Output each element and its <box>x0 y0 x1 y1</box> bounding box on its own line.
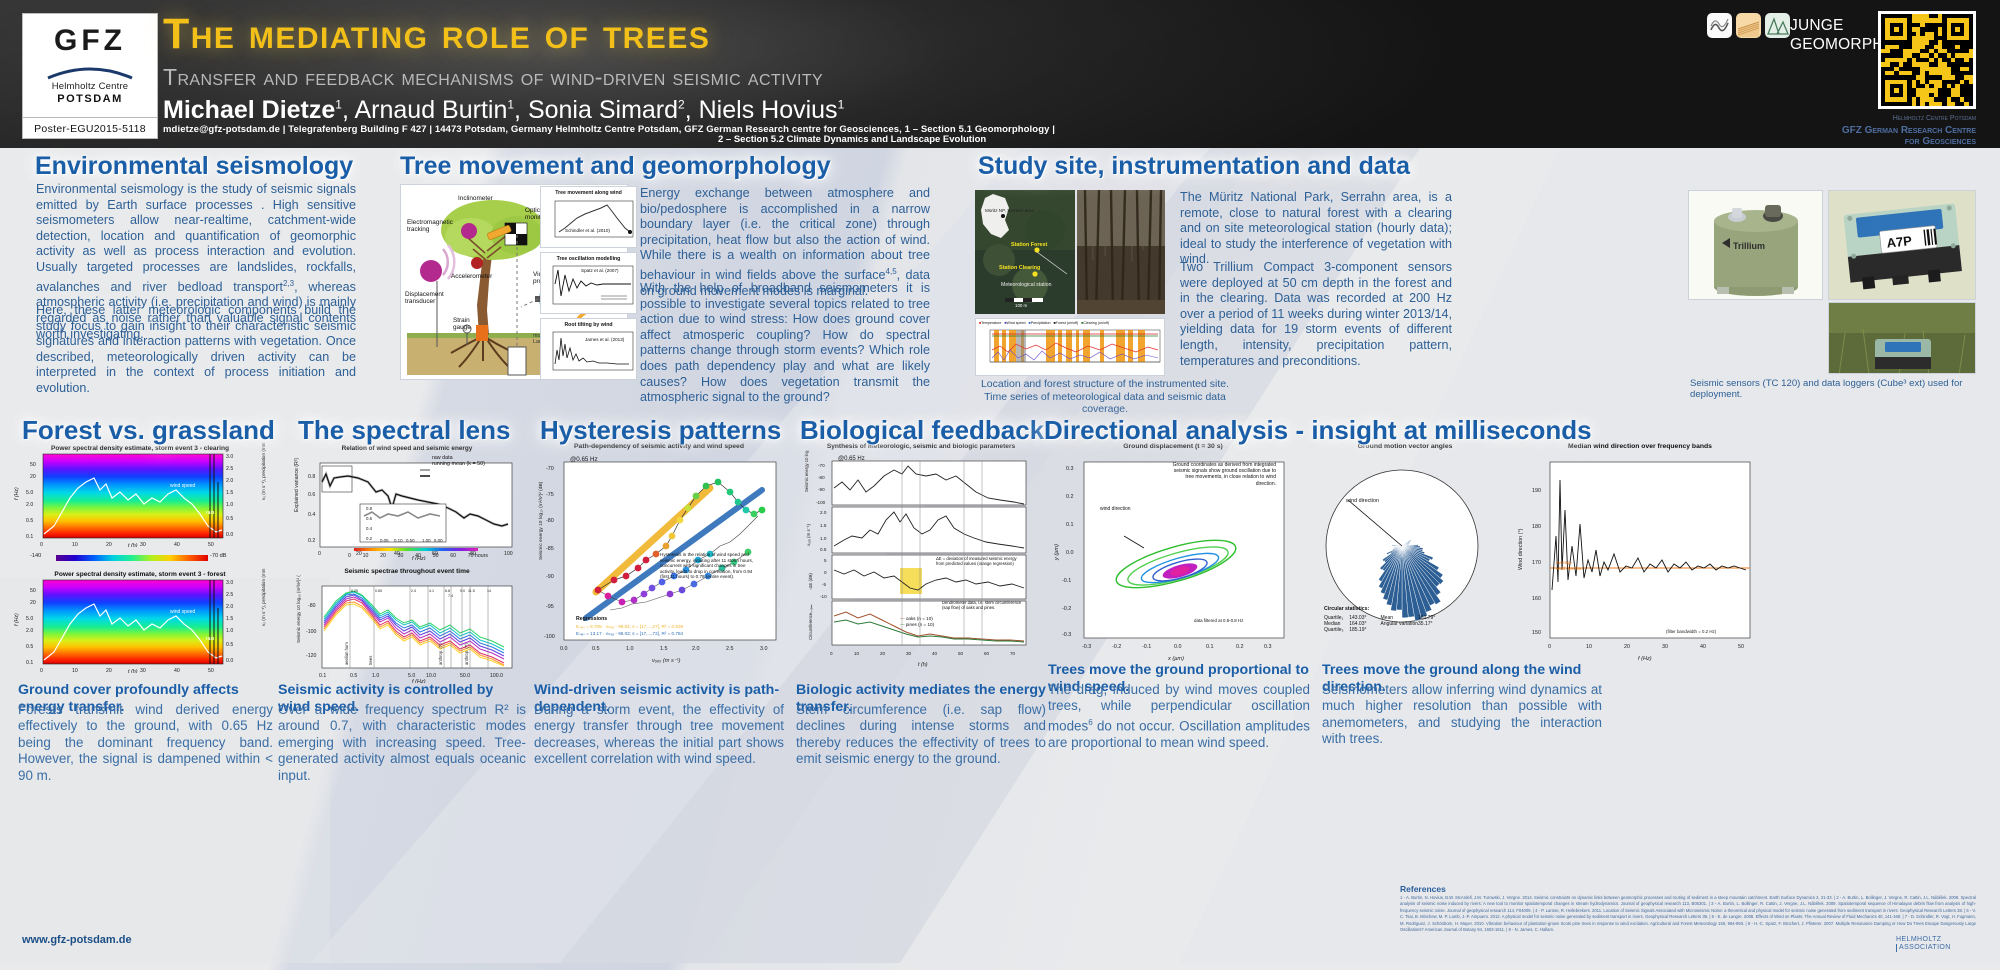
panel-ref-schindler: Schindler et al. (2010) <box>565 228 610 233</box>
svg-text:-85: -85 <box>546 546 554 552</box>
svg-text:190: 190 <box>1532 488 1541 494</box>
svg-text:-10: -10 <box>820 594 827 599</box>
poster-header: GFZ Helmholtz Centre POTSDAM Poster-EGU2… <box>0 0 2000 148</box>
variance-legend-mean: running mean (k = 50) <box>432 461 485 467</box>
svg-text:40: 40 <box>174 542 180 547</box>
gfz-logo-arc-icon <box>46 64 134 80</box>
ground-displacement-note: Ground coordinates as derived from integ… <box>1164 462 1276 487</box>
section-heading-hysteresis: Hysteresis patterns <box>540 415 781 446</box>
circular-statistics-heading: Circular statistics: <box>1324 606 1369 612</box>
svg-text:20: 20 <box>106 668 112 673</box>
svg-text:0: 0 <box>824 570 827 575</box>
svg-text:vₒₒₓ (m s⁻¹): vₒₒₓ (m s⁻¹) <box>806 524 811 546</box>
study-site-paragraph-1: The Müritz National Park, Serrahn area, … <box>1180 190 1452 268</box>
svg-text:5: 5 <box>824 558 827 563</box>
biological-legend: — oaks (n = 10) — pines (n = 10) <box>900 616 934 628</box>
svg-text:-0.1: -0.1 <box>1142 644 1151 650</box>
tree-movement-along-wind-panel: Tree movement along wind Schindler et al… <box>540 186 637 248</box>
svg-text:t (h): t (h) <box>128 669 138 673</box>
svg-text:0.65: 0.65 <box>375 589 382 593</box>
spectral-colorbar-gradient <box>354 548 478 551</box>
helmholtz-line-2: ASSOCIATION <box>1896 944 1951 952</box>
svg-text:0.0: 0.0 <box>1174 644 1182 650</box>
svg-text:0.5: 0.5 <box>592 646 600 652</box>
svg-text:average: average <box>1556 560 1572 565</box>
svg-text:1.0: 1.0 <box>626 646 634 652</box>
svg-text:0: 0 <box>1548 644 1551 650</box>
author-4: Niels Hovius <box>699 96 838 124</box>
svg-text:20: 20 <box>106 542 112 547</box>
svg-text:-0.3: -0.3 <box>1062 632 1071 638</box>
svg-text:0.0: 0.0 <box>226 532 233 538</box>
svg-text:6.8: 6.8 <box>445 589 450 593</box>
gfz-logo-sub2: POTSDAM <box>57 93 123 105</box>
svg-text:-100: -100 <box>816 500 826 505</box>
section-heading-biological-feedback: Biological feedback <box>800 415 1044 446</box>
svg-text:0.5: 0.5 <box>820 547 827 552</box>
svg-text:0.8: 0.8 <box>366 506 373 511</box>
svg-text:f (Hz): f (Hz) <box>1638 656 1652 662</box>
svg-text:anthrop. (?): anthrop. (?) <box>438 643 443 665</box>
trillium-sensor-photo: Trillium <box>1688 190 1823 300</box>
gfz-name-tiny: Helmholtz Centre Potsdam <box>1800 113 1976 125</box>
forest-photo <box>1077 190 1165 314</box>
svg-text:1.5: 1.5 <box>820 523 827 528</box>
svg-text:0.1: 0.1 <box>319 673 326 679</box>
psd-colorbar: -140 -70 dB <box>10 552 270 568</box>
svg-text:3.0: 3.0 <box>760 646 768 652</box>
svg-text:2.5: 2.5 <box>226 592 233 598</box>
svg-text:170: 170 <box>1532 560 1541 566</box>
author-3-sup: 2 <box>678 98 685 112</box>
conclusion-text-biological: Stem circumference (i.e. sap flow) decli… <box>796 702 1046 768</box>
svg-text:0.50: 0.50 <box>406 538 415 543</box>
psd-colorbar-max: -70 dB <box>210 553 226 559</box>
ground-displacement-wind-annot: wind direction <box>1100 506 1131 512</box>
svg-text:wind direction: wind direction <box>1556 566 1583 571</box>
svg-text:150: 150 <box>1532 630 1541 636</box>
biological-annotation-1: ΔE = deviation of measured seismic energ… <box>936 556 1022 566</box>
label-strain-gauge: Strain gauge <box>453 317 481 331</box>
biological-frequency-label: @0.65 Hz <box>838 456 865 462</box>
svg-text:-120: -120 <box>306 653 316 659</box>
svg-text:A7P: A7P <box>1886 233 1913 251</box>
author-4-sup: 1 <box>838 98 845 112</box>
svg-text:0.2: 0.2 <box>1066 494 1074 500</box>
svg-text:0.4: 0.4 <box>308 512 315 518</box>
author-3: Sonia Simard <box>528 96 678 124</box>
svg-text:1.5: 1.5 <box>660 646 668 652</box>
svg-text:-90: -90 <box>818 487 825 492</box>
svg-text:-0.2: -0.2 <box>1062 606 1071 612</box>
svg-text:5.00: 5.00 <box>434 538 443 543</box>
variance-frequency-figure: Relation of wind speed and seismic energ… <box>288 442 526 550</box>
intro-p1-citation: 2,3 <box>283 279 294 288</box>
svg-text:0.1: 0.1 <box>26 660 33 666</box>
svg-text:t (h): t (h) <box>918 662 928 668</box>
svg-text:vₒ (m s⁻¹), precipitation (mm: vₒ (m s⁻¹), precipitation (mm h⁻¹) <box>261 442 266 500</box>
psd-clearing-figure: Power spectral density estimate, storm e… <box>10 442 270 547</box>
svg-text:-80: -80 <box>308 603 316 609</box>
poster-subtitle: Transfer and feedback mechanisms of wind… <box>163 64 823 91</box>
svg-text:0.5: 0.5 <box>226 642 233 648</box>
svg-text:rain: rain <box>206 510 215 516</box>
section-heading-study-site: Study site, instrumentation and data <box>978 152 1410 181</box>
svg-text:0.5: 0.5 <box>26 518 33 524</box>
svg-text:-80: -80 <box>546 518 554 524</box>
svg-text:40: 40 <box>174 668 180 673</box>
panel-ref-james: James et al. (2013) <box>585 337 624 342</box>
svg-text:20: 20 <box>30 600 36 606</box>
svg-text:-ΔE (dB): -ΔE (dB) <box>808 573 813 590</box>
svg-text:(filter bandwidth = 0.2 Hz): (filter bandwidth = 0.2 Hz) <box>1666 629 1717 634</box>
svg-text:y (µm): y (µm) <box>1054 544 1060 561</box>
svg-text:50: 50 <box>1738 644 1744 650</box>
map-scale-label: 100 m <box>1015 303 1027 308</box>
svg-text:5.0: 5.0 <box>26 616 33 622</box>
legend-temperature: ■Temperature <box>979 321 1001 325</box>
svg-text:50: 50 <box>30 588 36 594</box>
svg-text:30: 30 <box>906 651 912 656</box>
svg-text:0.05: 0.05 <box>380 538 389 543</box>
svg-text:1.0: 1.0 <box>820 536 827 541</box>
svg-text:0: 0 <box>40 542 43 547</box>
vector-angles-figure: Ground motion vector angles wind directi… <box>1290 440 1520 665</box>
junge-geomorphologen-logos <box>1707 13 1790 38</box>
tree-p1-citation: 4,5 <box>886 267 897 276</box>
svg-text:-95: -95 <box>546 604 554 610</box>
svg-text:2.0: 2.0 <box>820 510 827 515</box>
map-label-station-forest: Station Forest <box>1011 242 1047 248</box>
vector-angles-wind-annot: wind direction <box>1346 498 1379 505</box>
qr-code-grid <box>1881 14 1973 106</box>
svg-text:7.4: 7.4 <box>448 594 453 598</box>
svg-text:2.0: 2.0 <box>26 502 33 508</box>
label-electromagnetic-tracking: Electromagnetic tracking <box>407 219 453 233</box>
conclusion-text-directional-1: The drag, induced by wind moves coupled … <box>1048 682 1310 751</box>
svg-text:10: 10 <box>854 651 860 656</box>
svg-text:0.8: 0.8 <box>308 474 315 480</box>
tree-paragraph-2: With the help of broadband seismometers … <box>640 281 930 406</box>
legend-clearing: ■Clearing (on/off) <box>1081 321 1109 325</box>
label-displacement-transducer: Displacement transducer <box>405 291 451 305</box>
svg-text:100.0: 100.0 <box>490 673 503 679</box>
logger-field-photo <box>1828 302 1976 374</box>
svg-text:Seismic energy 10 log₁₀ (m²/s²: Seismic energy 10 log₁₀ (m²/s²)² (dB) <box>296 575 301 643</box>
hysteresis-regression-2: Eₛₑᵢₛ = 13.17 · vₘₐₓ - 95.03; s = [17,..… <box>576 631 683 637</box>
map-label-met-station: Meteorological station <box>1001 282 1051 288</box>
label-accelerometer: Accelerometer <box>451 273 492 280</box>
label-inclinometer: Inclinometer <box>458 195 493 202</box>
helmholtz-line-1: HELMHOLTZ <box>1896 936 1951 944</box>
svg-text:20: 20 <box>880 651 886 656</box>
map-inset-label: Müritz NP, Serrahn area <box>985 208 1034 213</box>
gfz-name-line2: for Geosciences <box>1905 136 1976 147</box>
svg-text:f (Hz): f (Hz) <box>14 613 20 626</box>
svg-text:4.1: 4.1 <box>429 589 434 593</box>
svg-text:0.5: 0.5 <box>350 673 357 679</box>
section-heading-forest-vs-grassland: Forest vs. grassland <box>22 415 275 446</box>
seismic-spectra-title: Seismic spectrae throughout event time <box>288 565 526 575</box>
conclusion-text-spectral: Over a wide frequency spectrum R² is aro… <box>278 702 526 784</box>
svg-text:1.5: 1.5 <box>226 490 233 496</box>
hysteresis-frequency-label: @0.65 Hz <box>570 456 598 463</box>
svg-text:50.0: 50.0 <box>460 673 470 679</box>
legend-precipitation: ■Precipitation <box>1029 321 1051 325</box>
legend-wind-speed: ■Wind speed <box>1004 321 1025 325</box>
section-heading-environmental-seismology: Environmental seismology <box>35 152 353 181</box>
svg-text:0.1: 0.1 <box>1206 644 1214 650</box>
svg-text:-70: -70 <box>546 466 554 472</box>
seismic-spectra-figure: Seismic spectrae throughout event time 0… <box>288 565 526 673</box>
map-label-station-clearing: Station Clearing <box>999 265 1040 271</box>
svg-text:0.2: 0.2 <box>1236 644 1244 650</box>
svg-text:3.0: 3.0 <box>226 580 233 586</box>
footer-website-link[interactable]: www.gfz-potsdam.de <box>22 934 132 946</box>
svg-text:-70: -70 <box>818 463 825 468</box>
intro-paragraph-2: Here, these latter meteorologic componen… <box>36 303 356 397</box>
svg-text:rain: rain <box>206 636 215 642</box>
svg-text:anthrop. (?): anthrop. (?) <box>464 643 469 665</box>
svg-text:0.2: 0.2 <box>308 538 315 544</box>
hysteresis-figure: Path-dependency of seismic activity and … <box>534 440 784 670</box>
svg-text:0.1: 0.1 <box>26 534 33 540</box>
references-body: 1 - A. Burtin, N. Hovius, B.W. McArdell,… <box>1400 895 1976 933</box>
panel-title-tree-oscillation: Tree oscillation modelling <box>541 253 636 262</box>
svg-text:-0.3: -0.3 <box>1082 644 1091 650</box>
svg-text:t (h): t (h) <box>128 543 138 547</box>
qr-code[interactable] <box>1878 11 1976 109</box>
svg-text:20: 20 <box>30 474 36 480</box>
panel-ref-spatz: Spatz et al. (2007) <box>581 268 619 273</box>
svg-text:vₒₒₓ (m s⁻¹): vₒₒₓ (m s⁻¹) <box>652 658 681 664</box>
svg-text:0.0: 0.0 <box>226 658 233 664</box>
svg-text:2.0: 2.0 <box>692 646 700 652</box>
svg-text:3.0: 3.0 <box>226 454 233 460</box>
svg-text:wind speed: wind speed <box>170 483 196 489</box>
svg-text:-5: -5 <box>822 582 827 587</box>
sensor-photo-caption: Seismic sensors (TC 120) and data logger… <box>1690 378 1980 401</box>
biological-annotation-2: Dendrometer data, i.e. stem circumferenc… <box>942 600 1024 610</box>
conclusion-text-hysteresis: During a storm event, the effectivity of… <box>534 702 784 768</box>
gfz-name-line1: GFZ German Research Centre <box>1842 125 1976 136</box>
author-2: Arnaud Burtin <box>354 96 507 124</box>
svg-text:40: 40 <box>1700 644 1706 650</box>
svg-text:30: 30 <box>140 668 146 673</box>
section-heading-tree-movement: Tree movement and geomorphology <box>400 152 831 181</box>
tree-oscillation-modelling-panel: Tree oscillation modelling Spatz et al. … <box>540 252 637 314</box>
svg-text:50: 50 <box>208 668 214 673</box>
svg-text:10: 10 <box>1586 644 1592 650</box>
svg-text:-100: -100 <box>544 634 555 640</box>
svg-text:40: 40 <box>932 651 938 656</box>
svg-text:Explained variance (R²): Explained variance (R²) <box>294 458 300 512</box>
spectral-colorbar-ticks: 010 2030 4050 6070 hours <box>348 553 488 559</box>
meteorological-timeseries-chart: ■Temperature ■Wind speed ■Precipitation … <box>975 318 1165 376</box>
svg-text:9.0: 9.0 <box>460 589 465 593</box>
study-site-paragraph-2: Two Trillium Compact 3-component sensors… <box>1180 260 1452 369</box>
study-site-map: Müritz NP, Serrahn area Station Forest S… <box>975 190 1075 314</box>
gfz-logo-sub1: Helmholtz Centre <box>52 81 129 92</box>
svg-text:50: 50 <box>208 542 214 547</box>
svg-text:0.3: 0.3 <box>1066 466 1074 472</box>
svg-text:180: 180 <box>1532 524 1541 530</box>
author-list: Michael Dietze1, Arnaud Burtin1, Sonia S… <box>163 96 844 125</box>
legend-forest: ■Forest (on/off) <box>1053 321 1078 325</box>
svg-text:2.0: 2.0 <box>226 604 233 610</box>
svg-text:0.0: 0.0 <box>560 646 568 652</box>
svg-text:10: 10 <box>72 542 78 547</box>
sediment-layers-icon <box>1736 13 1761 38</box>
svg-text:60: 60 <box>984 651 990 656</box>
conclusion-text-forest: Forests transmit wind derived energy eff… <box>18 702 273 784</box>
hysteresis-note: Hysteresis in the relation of wind speed… <box>660 552 754 580</box>
datacube-logger-photo: A7P <box>1828 190 1976 300</box>
svg-text:0.10: 0.10 <box>394 538 403 543</box>
svg-text:70: 70 <box>1010 651 1016 656</box>
svg-text:5.0: 5.0 <box>26 490 33 496</box>
svg-text:0.0: 0.0 <box>1066 550 1074 556</box>
svg-text:2.0: 2.0 <box>26 628 33 634</box>
hysteresis-regression-header: Regressions <box>576 616 607 622</box>
psd-forest-figure: Power spectral density estimate, storm e… <box>10 568 270 673</box>
svg-text:10: 10 <box>72 668 78 673</box>
svg-text:0.3: 0.3 <box>1264 644 1272 650</box>
svg-text:Seismic energy 10 log₁₀ (m²/s²: Seismic energy 10 log₁₀ (m²/s²)² (dB) <box>804 450 809 492</box>
poster-id-badge: Poster-EGU2015-5118 <box>22 117 158 139</box>
table-row: Quartile₃ 185.19° <box>1324 627 1435 633</box>
ground-displacement-filter-label: data filtered at 0.5-0.8 Hz <box>1194 618 1243 623</box>
ground-displacement-figure: Ground displacement (t = 30 s) 0.30.20.1… <box>1048 440 1298 665</box>
svg-text:11.5: 11.5 <box>468 589 475 593</box>
intro-p1-text: Environmental seismology is the study of… <box>36 182 356 294</box>
svg-text:-80: -80 <box>818 475 825 480</box>
svg-text:0.5: 0.5 <box>26 644 33 650</box>
svg-text:2.5: 2.5 <box>726 646 734 652</box>
helmholtz-logo: HELMHOLTZ ASSOCIATION <box>1896 936 1951 952</box>
svg-text:Circumference₍ₛₜₑₘ₎: Circumference₍ₛₜₑₘ₎ <box>808 604 813 640</box>
svg-text:0.1: 0.1 <box>1066 522 1074 528</box>
references-heading: References <box>1400 884 1446 894</box>
section-heading-directional: Directional analysis - insight at millis… <box>1044 415 1592 446</box>
svg-text:50: 50 <box>30 462 36 468</box>
svg-text:Trillium: Trillium <box>1733 241 1765 251</box>
svg-text:10.0: 10.0 <box>426 673 436 679</box>
svg-text:1.5: 1.5 <box>226 616 233 622</box>
author-1: Michael Dietze <box>163 96 335 124</box>
variance-legend: raw data running mean (k = 50) <box>432 455 485 468</box>
timeseries-legend: ■Temperature ■Wind speed ■Precipitation … <box>979 321 1109 325</box>
svg-text:0: 0 <box>40 668 43 673</box>
gfz-full-name: Helmholtz Centre Potsdam GFZ German Rese… <box>1800 113 1976 148</box>
svg-text:wind speed: wind speed <box>170 609 196 615</box>
svg-text:14: 14 <box>487 589 491 593</box>
gfz-logo-main: GFZ <box>54 26 126 56</box>
svg-text:0.6: 0.6 <box>366 516 373 521</box>
svg-text:trees: trees <box>368 656 373 665</box>
svg-text:0.6: 0.6 <box>308 492 315 498</box>
svg-text:-100: -100 <box>306 629 316 635</box>
svg-text:2.0: 2.0 <box>226 478 233 484</box>
svg-text:1.0: 1.0 <box>226 502 233 508</box>
poster-title: The mediating role of trees <box>163 10 710 59</box>
svg-text:1.0: 1.0 <box>372 673 379 679</box>
svg-text:50: 50 <box>958 651 964 656</box>
svg-text:20: 20 <box>1624 644 1630 650</box>
svg-text:-0.1: -0.1 <box>1062 578 1071 584</box>
svg-text:0.25: 0.25 <box>351 589 358 593</box>
svg-text:-0.2: -0.2 <box>1112 644 1121 650</box>
study-site-caption: Location and forest structure of the ins… <box>975 378 1235 416</box>
section-heading-spectral-lens: The spectral lens <box>298 415 510 446</box>
svg-text:30: 30 <box>1662 644 1668 650</box>
wind-direction-frequency-figure: Median wind direction over frequency ban… <box>1510 440 1770 665</box>
svg-text:0: 0 <box>830 651 833 656</box>
svg-text:2.5: 2.5 <box>226 466 233 472</box>
mountains-icon <box>1765 13 1790 38</box>
psd-colorbar-gradient <box>56 555 208 561</box>
panel-title-tree-movement: Tree movement along wind <box>541 187 636 196</box>
svg-text:vₒ (m s⁻¹), precipitation (mm: vₒ (m s⁻¹), precipitation (mm h⁻¹) <box>261 568 266 626</box>
affiliation-line-2: 2 – Section 5.2 Climate Dynamics and Lan… <box>718 134 986 145</box>
svg-text:-90: -90 <box>546 574 554 580</box>
svg-text:Seismic energy 10 log₁₀ (m²/s²: Seismic energy 10 log₁₀ (m²/s²)² (dB) <box>538 481 544 560</box>
svg-text:0.4: 0.4 <box>366 526 373 531</box>
spectral-time-colorbar: 010 2030 4050 6070 hours <box>288 545 526 563</box>
svg-text:Wind direction (°): Wind direction (°) <box>1518 528 1524 570</box>
svg-text:2.4: 2.4 <box>411 589 416 593</box>
svg-text:160: 160 <box>1532 596 1541 602</box>
panel-title-root-tilting: Root tilting by wind <box>541 319 636 328</box>
svg-text:0.2: 0.2 <box>366 536 373 541</box>
svg-text:1.00: 1.00 <box>422 538 431 543</box>
root-tilting-panel: Root tilting by wind James et al. (2013) <box>540 318 637 380</box>
conclusion-text-directional-2: Seismometers allow inferring wind dynami… <box>1322 682 1602 748</box>
svg-text:-75: -75 <box>546 492 554 498</box>
svg-text:1.0: 1.0 <box>226 628 233 634</box>
author-1-sup: 1 <box>335 98 342 112</box>
svg-text:aeolian hum: aeolian hum <box>344 642 349 665</box>
svg-text:f (Hz): f (Hz) <box>14 487 20 500</box>
legend-pines: — pines (n = 10) <box>900 622 934 628</box>
svg-text:·: · <box>994 365 995 367</box>
hysteresis-regression-1: Eₛₑᵢₛ = 9.705 · vₘₐₓ - 98.64; s = [17,..… <box>576 624 683 630</box>
svg-text:30: 30 <box>140 542 146 547</box>
folded-strata-icon <box>1707 13 1732 38</box>
biological-synthesis-figure: Synthesis of meteorologic, seismic and b… <box>796 440 1046 670</box>
circular-statistics-table: Quartile₁ 143.03° Mean 161.79° Median 16… <box>1324 615 1435 633</box>
psd-colorbar-min: -140 <box>30 553 41 559</box>
svg-text:0.5: 0.5 <box>226 516 233 522</box>
